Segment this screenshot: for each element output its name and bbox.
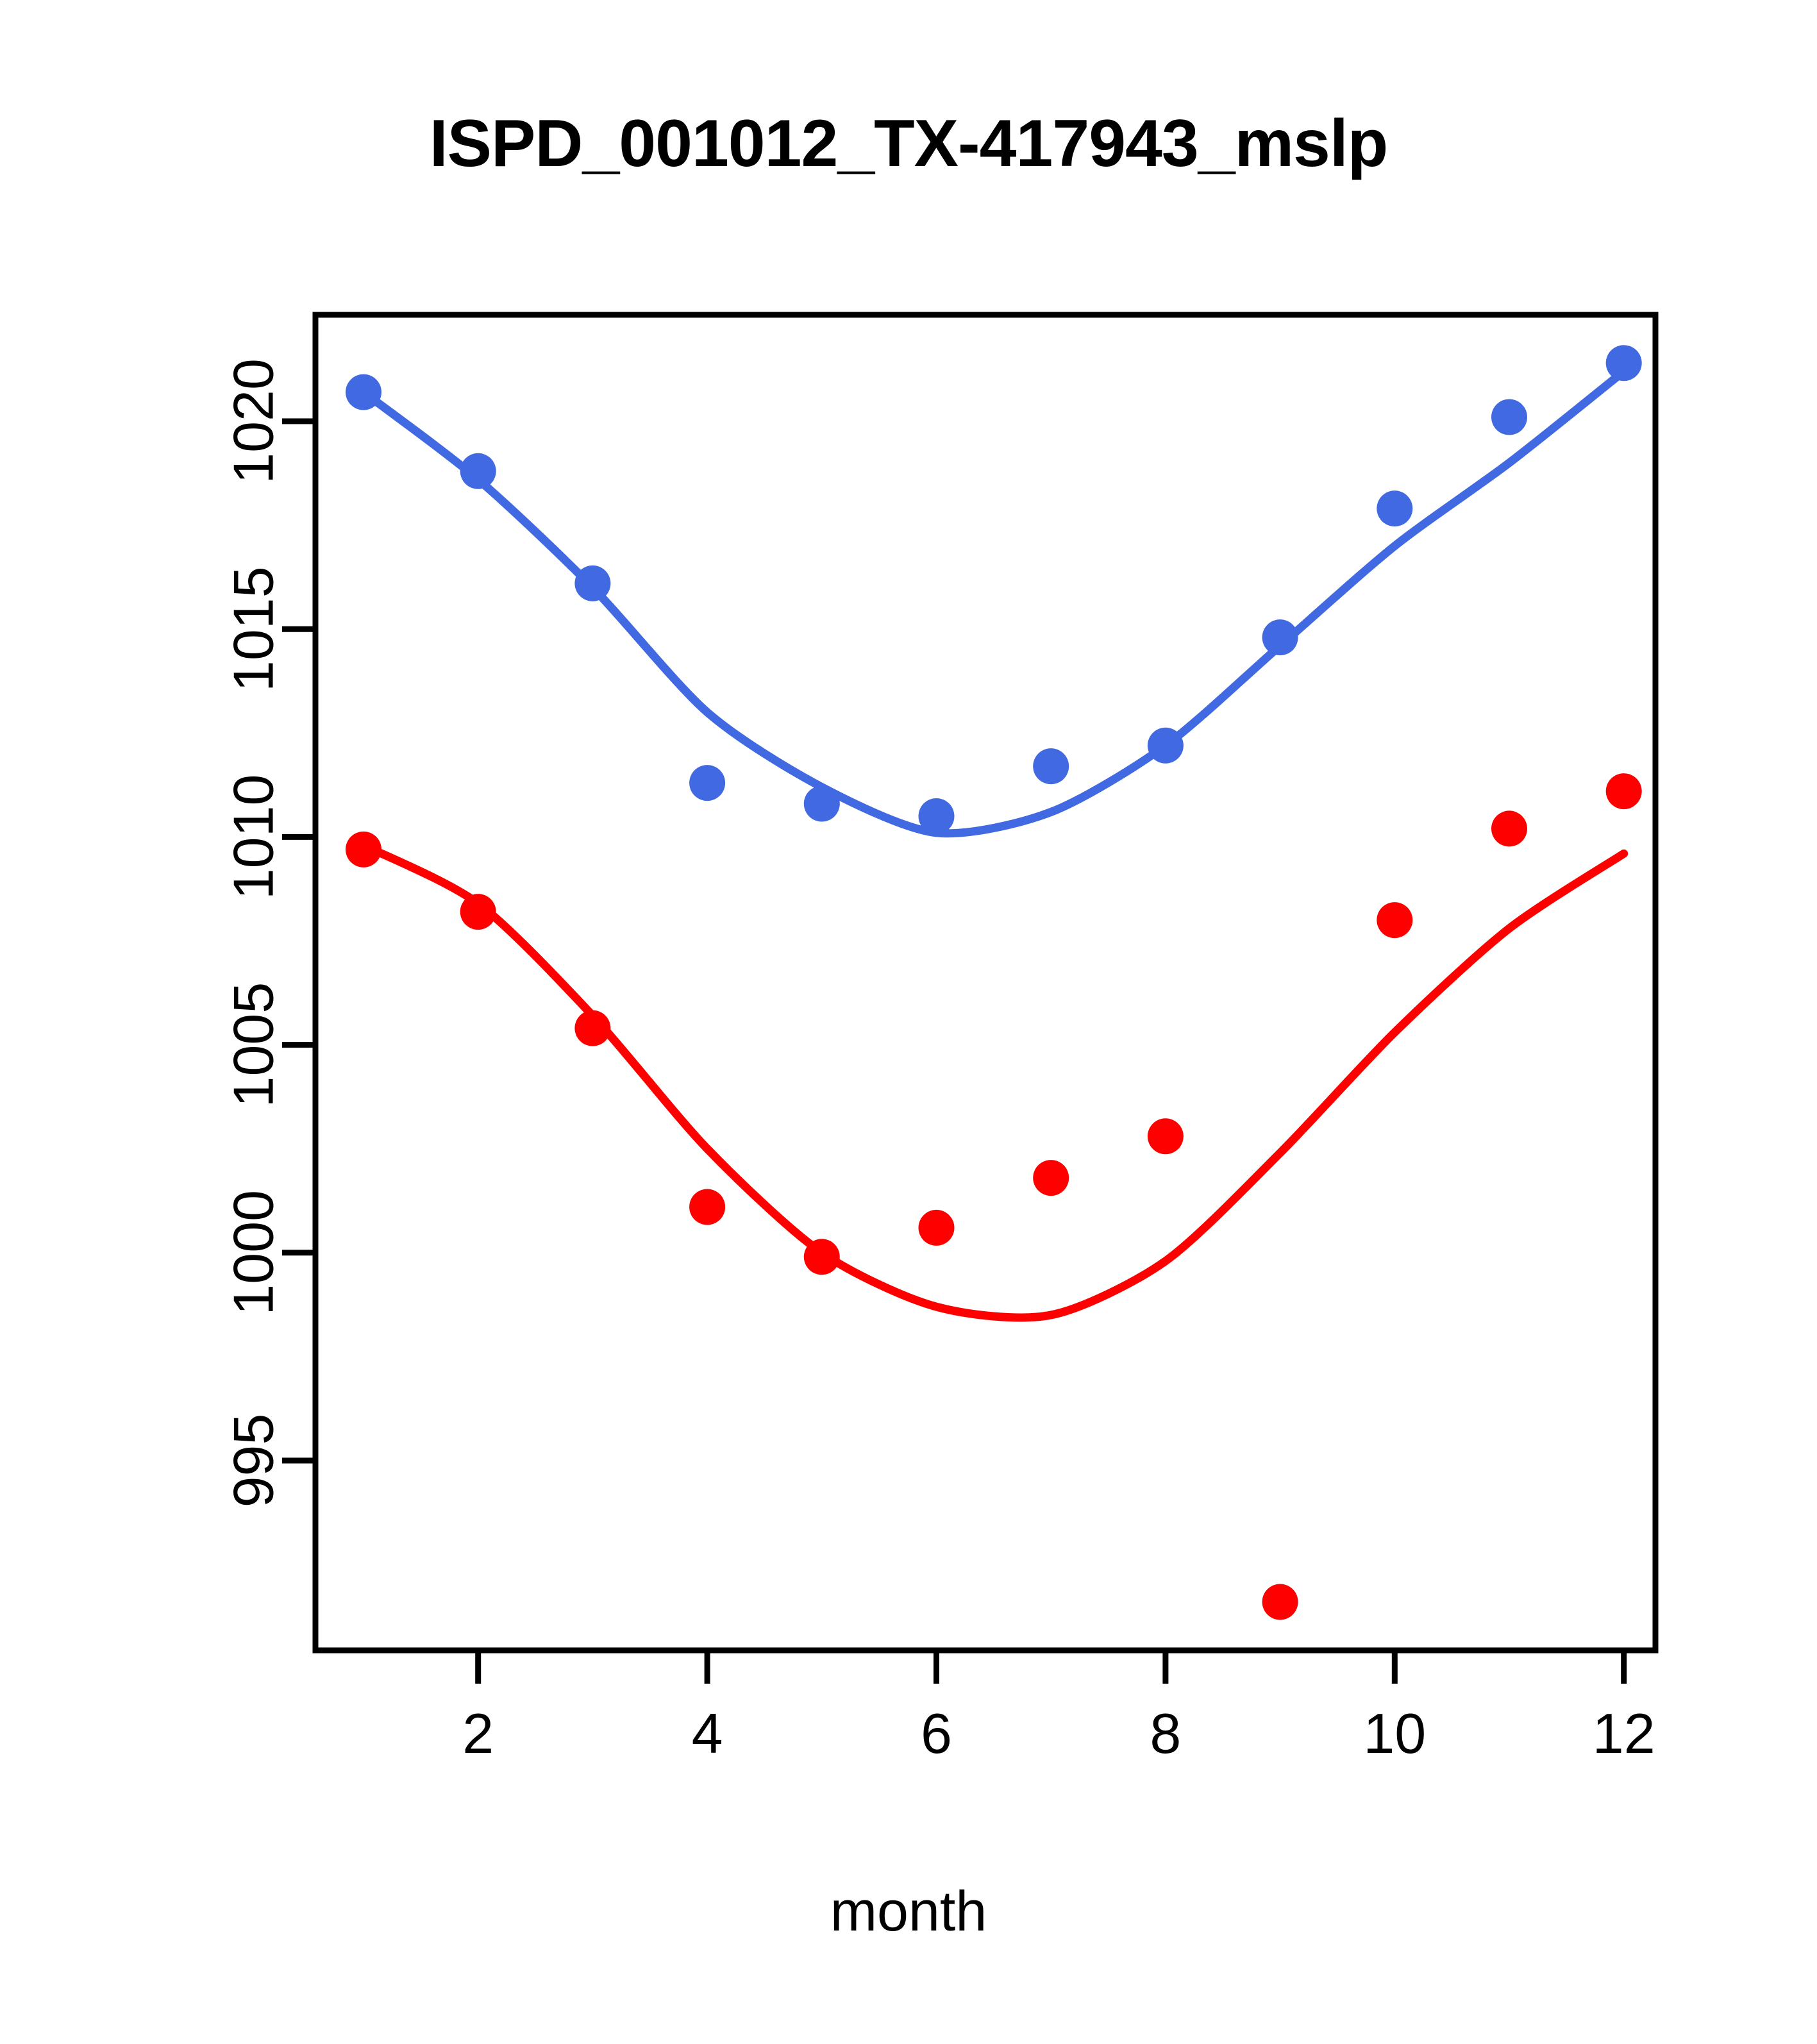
data-point <box>1377 902 1412 938</box>
x-tick-label: 2 <box>462 1702 494 1765</box>
x-tick-label: 4 <box>692 1702 723 1765</box>
y-tick-label: 1005 <box>221 982 285 1108</box>
chart-canvas: 99510001005101010151020 24681012 <box>0 0 1817 2044</box>
x-tick-label: 6 <box>921 1702 952 1765</box>
y-tick-label: 1020 <box>221 358 285 484</box>
data-point <box>1148 1118 1184 1154</box>
x-tick-label: 8 <box>1150 1702 1181 1765</box>
data-point <box>1491 399 1527 435</box>
data-point <box>1033 1160 1069 1196</box>
data-point <box>1033 748 1069 784</box>
data-point <box>1606 773 1642 809</box>
chart-plot-area: ISPD_001012_TX-417943_mslp 9951000100510… <box>0 0 1817 2044</box>
data-point <box>919 1210 955 1246</box>
y-tick-label: 1000 <box>221 1190 285 1316</box>
chart-series-group <box>346 345 1642 1620</box>
data-point <box>689 765 725 801</box>
series-line-red-line <box>364 845 1624 1318</box>
y-tick-label: 995 <box>221 1414 285 1508</box>
data-point <box>1262 1584 1298 1620</box>
y-axis-ticks: 99510001005101010151020 <box>221 358 315 1507</box>
x-axis-label: month <box>0 1879 1817 1944</box>
x-axis-ticks: 24681012 <box>462 1650 1655 1765</box>
data-point <box>1491 810 1527 846</box>
x-tick-label: 10 <box>1363 1702 1426 1765</box>
x-tick-label: 12 <box>1593 1702 1655 1765</box>
series-line-blue-line <box>364 371 1624 834</box>
y-tick-label: 1010 <box>221 775 285 900</box>
data-point <box>689 1189 725 1225</box>
data-point <box>1377 490 1412 526</box>
y-tick-label: 1015 <box>221 566 285 692</box>
